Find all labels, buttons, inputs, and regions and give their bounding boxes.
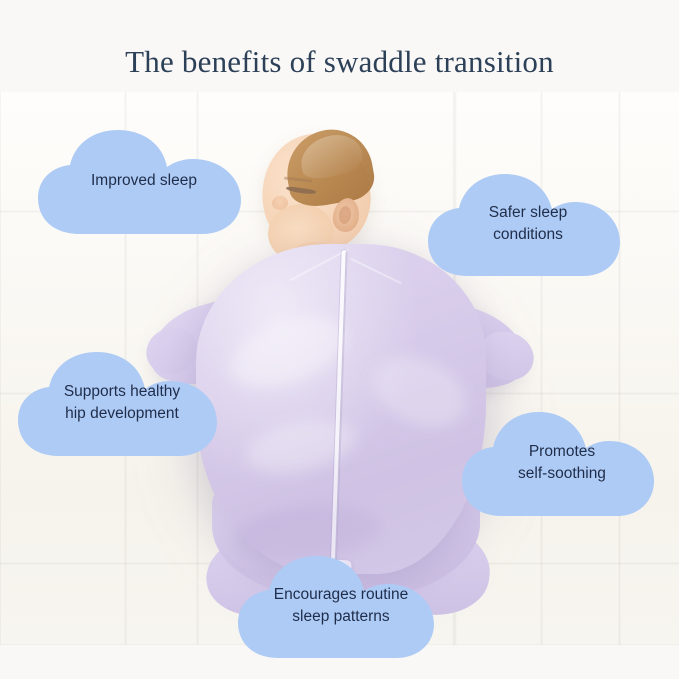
benefit-cloud-improved-sleep[interactable]: Improved sleep (34, 126, 254, 236)
benefit-label: Encourages routine sleep patterns (262, 584, 420, 628)
benefit-label: Improved sleep (79, 170, 209, 192)
benefit-label: Supports healthy hip development (52, 381, 192, 425)
page-title: The benefits of swaddle transition (0, 44, 679, 80)
benefit-label: Safer sleep conditions (477, 202, 579, 246)
benefit-cloud-hip-development[interactable]: Supports healthy hip development (14, 348, 230, 458)
benefit-cloud-routine-sleep[interactable]: Encourages routine sleep patterns (234, 552, 448, 660)
benefit-cloud-safer-sleep[interactable]: Safer sleep conditions (424, 170, 632, 278)
benefit-cloud-self-soothing[interactable]: Promotes self-soothing (458, 408, 666, 518)
benefit-label: Promotes self-soothing (506, 441, 618, 485)
infographic-page: The benefits of swaddle transition (0, 0, 679, 679)
